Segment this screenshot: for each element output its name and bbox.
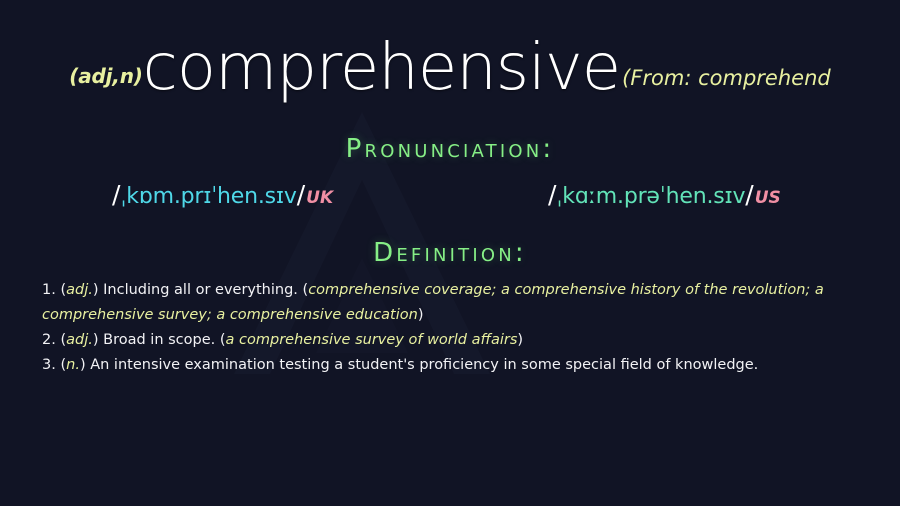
headword-row: (adj,n) comprehensive (From: comprehend xyxy=(0,36,900,110)
definition-item: 3. (n.) An intensive examination testing… xyxy=(42,353,842,378)
definition-number: 3. xyxy=(42,357,56,373)
example-paren-close: ) xyxy=(517,332,523,348)
definition-paren-close: ) xyxy=(93,282,99,298)
definition-paren-close: ) xyxy=(80,357,86,373)
definition-part-of-speech: adj. xyxy=(66,282,93,298)
part-of-speech-tag: (adj,n) xyxy=(69,64,142,88)
pronunciation-us: /ˌkɑːm.prəˈhen.sɪv/US xyxy=(548,180,781,209)
definition-part-of-speech: adj. xyxy=(66,332,93,348)
ipa-transcription-uk: ˌkɒm.prɪˈhen.sɪv xyxy=(120,184,296,209)
pronunciation-section-heading: Pronunciation: xyxy=(0,134,900,164)
locale-label-uk: UK xyxy=(306,188,333,208)
definition-item: 1. (adj.) Including all or everything. (… xyxy=(42,278,842,328)
definition-gloss: Including all or everything. xyxy=(103,282,298,298)
definition-gloss: An intensive examination testing a stude… xyxy=(90,357,758,373)
definition-section-heading: Definition: xyxy=(0,238,900,268)
definition-item: 2. (adj.) Broad in scope. (a comprehensi… xyxy=(42,328,842,353)
pronunciation-row: /ˌkɒm.prɪˈhen.sɪv/UK /ˌkɑːm.prəˈhen.sɪv/… xyxy=(0,180,900,216)
definition-paren-close: ) xyxy=(93,332,99,348)
etymology-note: (From: comprehend xyxy=(622,66,831,90)
locale-label-us: US xyxy=(755,188,781,208)
definition-examples: a comprehensive survey of world affairs xyxy=(226,332,518,348)
definition-gloss: Broad in scope. xyxy=(103,332,215,348)
ipa-close-slash-us: / xyxy=(745,180,753,209)
dictionary-entry-card: (adj,n) comprehensive (From: comprehend … xyxy=(0,0,900,506)
headword-title: comprehensive xyxy=(143,36,620,100)
ipa-transcription-us: ˌkɑːm.prəˈhen.sɪv xyxy=(556,184,745,209)
definition-number: 1. xyxy=(42,282,56,298)
definition-list: 1. (adj.) Including all or everything. (… xyxy=(42,278,842,378)
example-paren-close: ) xyxy=(418,307,424,323)
definition-part-of-speech: n. xyxy=(66,357,80,373)
ipa-close-slash-uk: / xyxy=(297,180,305,209)
definition-number: 2. xyxy=(42,332,56,348)
pronunciation-uk: /ˌkɒm.prɪˈhen.sɪv/UK xyxy=(112,180,333,209)
